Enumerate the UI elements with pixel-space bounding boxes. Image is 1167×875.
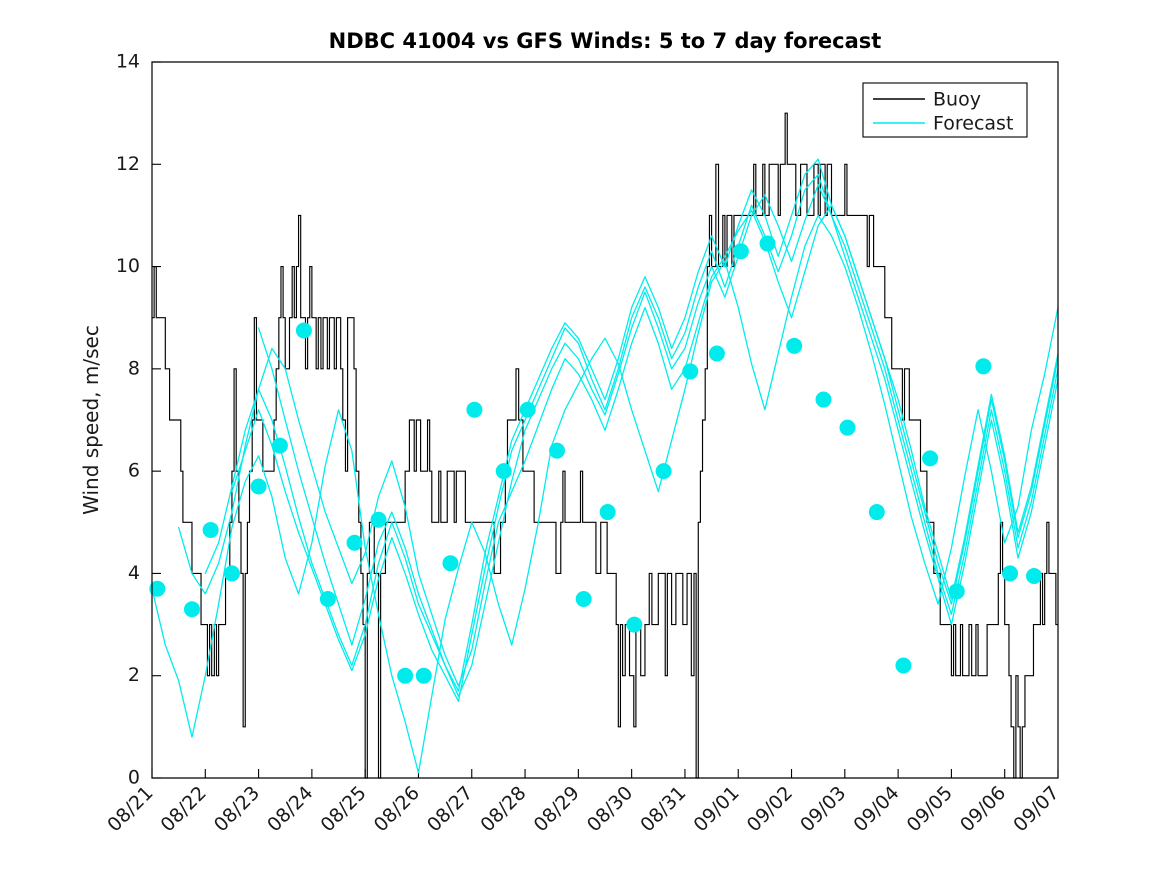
forecast-data-point xyxy=(184,601,200,617)
legend-label-forecast: Forecast xyxy=(933,113,1013,135)
matplotlib-figure: NDBC 41004 vs GFS Winds: 5 to 7 day fore… xyxy=(0,0,1167,875)
forecast-data-point xyxy=(466,402,482,418)
y-tick-label: 8 xyxy=(128,357,140,379)
forecast-data-point xyxy=(296,323,312,339)
forecast-data-point xyxy=(203,522,219,538)
forecast-data-point xyxy=(1026,568,1042,584)
forecast-data-point xyxy=(251,478,267,494)
forecast-data-point xyxy=(869,504,885,520)
forecast-data-point xyxy=(1002,565,1018,581)
forecast-data-point xyxy=(733,243,749,259)
forecast-data-point xyxy=(839,420,855,436)
forecast-data-point xyxy=(576,591,592,607)
forecast-data-point xyxy=(520,402,536,418)
page-title: NDBC 41004 vs GFS Winds: 5 to 7 day fore… xyxy=(329,29,882,53)
forecast-data-point xyxy=(626,617,642,633)
forecast-data-point xyxy=(320,591,336,607)
y-tick-label: 12 xyxy=(116,153,140,175)
chart-page: NDBC 41004 vs GFS Winds: 5 to 7 day fore… xyxy=(0,0,1167,875)
y-tick-label: 14 xyxy=(116,51,140,73)
y-axis-label: Wind speed, m/sec xyxy=(79,325,103,515)
forecast-data-point xyxy=(760,236,776,252)
forecast-data-point xyxy=(816,392,832,408)
legend-label-buoy: Buoy xyxy=(933,89,981,111)
y-tick-label: 4 xyxy=(128,562,140,584)
forecast-data-point xyxy=(922,450,938,466)
forecast-data-point xyxy=(496,463,512,479)
forecast-data-point xyxy=(895,657,911,673)
legend[interactable]: Buoy Forecast xyxy=(863,83,1027,137)
forecast-data-point xyxy=(786,338,802,354)
forecast-data-point xyxy=(272,438,288,454)
forecast-data-point xyxy=(949,583,965,599)
forecast-data-point xyxy=(442,555,458,571)
forecast-data-point xyxy=(347,535,363,551)
forecast-data-point xyxy=(549,443,565,459)
forecast-data-point xyxy=(224,565,240,581)
forecast-data-point xyxy=(371,512,387,528)
forecast-data-point xyxy=(416,668,432,684)
y-tick-label: 6 xyxy=(128,460,140,482)
forecast-data-point xyxy=(975,358,991,374)
forecast-data-point xyxy=(709,346,725,362)
y-tick-label: 2 xyxy=(128,664,140,686)
forecast-data-point xyxy=(600,504,616,520)
forecast-data-point xyxy=(397,668,413,684)
y-tick-label: 10 xyxy=(116,255,140,277)
forecast-data-point xyxy=(656,463,672,479)
forecast-data-point xyxy=(682,363,698,379)
